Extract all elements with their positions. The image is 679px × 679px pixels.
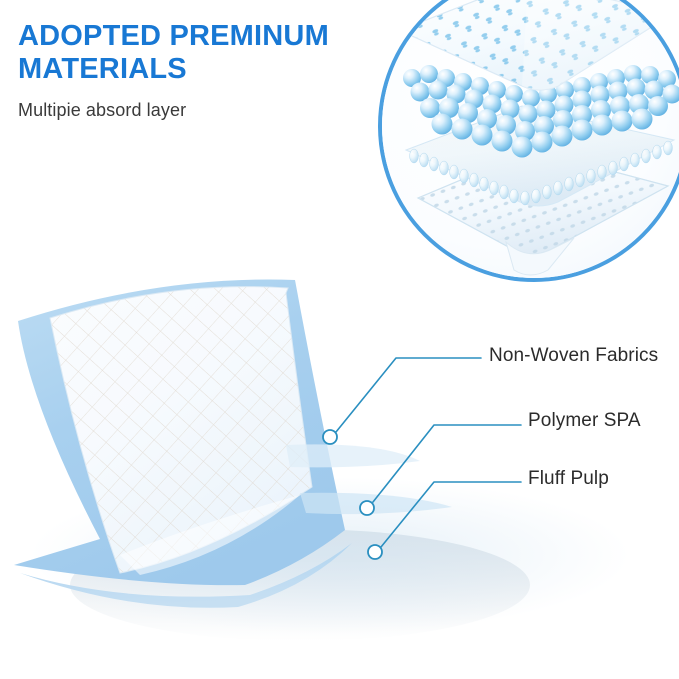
- callout-label-fluff-pulp: Fluff Pulp: [528, 468, 609, 490]
- callout-label-non-woven-fabrics: Non-Woven Fabrics: [489, 345, 658, 367]
- pad-background-wisp: [286, 444, 420, 467]
- page-subtitle: Multipie absord layer: [18, 100, 378, 121]
- heading-block: ADOPTED PREMINUM MATERIALS Multipie abso…: [18, 20, 378, 121]
- layered-materials-illustration: [382, 0, 679, 278]
- infographic-canvas: ADOPTED PREMINUM MATERIALS Multipie abso…: [0, 0, 679, 679]
- absorbent-pad-illustration: [0, 255, 679, 679]
- materials-closeup-inset: [378, 0, 679, 282]
- inset-content-clip: [382, 0, 679, 278]
- callout-label-polymer-spa: Polymer SPA: [528, 410, 641, 432]
- page-title: ADOPTED PREMINUM MATERIALS: [18, 20, 378, 86]
- pad-svg: [0, 255, 679, 679]
